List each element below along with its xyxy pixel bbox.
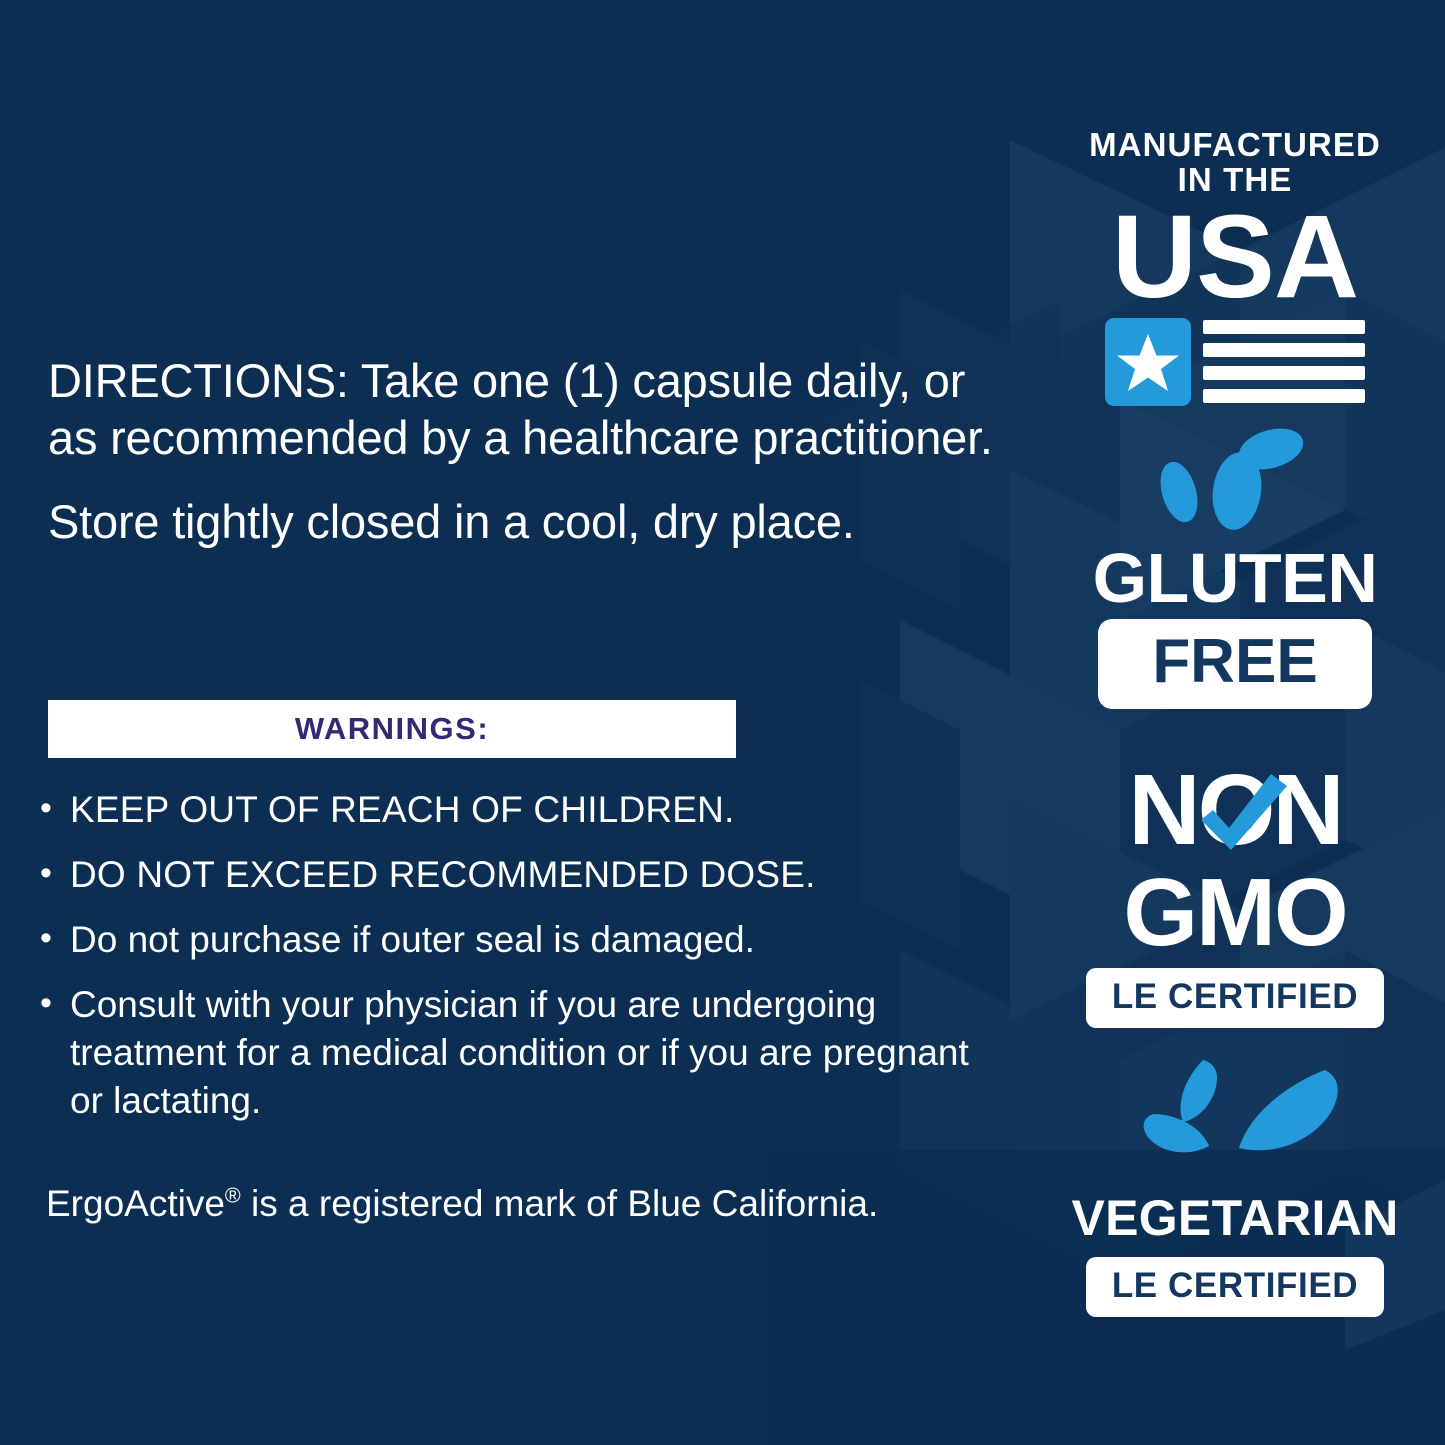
non-gmo-certified-pill: LE CERTIFIED — [1086, 968, 1384, 1028]
badge-non-gmo: NON GMO LE CERTIFIED — [1025, 758, 1445, 1028]
badge-vegetarian: VEGETARIAN LE CERTIFIED — [1025, 1052, 1445, 1317]
bullet-icon: • — [40, 851, 70, 895]
supplement-label-panel: DIRECTIONS: Take one (1) capsule daily, … — [0, 0, 1445, 1445]
certification-badges-column: MANUFACTURED IN THE USA — [1025, 0, 1445, 1445]
warning-text: Do not purchase if outer seal is damaged… — [70, 916, 1000, 964]
badge-gluten-free: GLUTEN FREE — [1025, 424, 1445, 709]
vegetarian-certified-pill: LE CERTIFIED — [1086, 1257, 1384, 1317]
directions-block: DIRECTIONS: Take one (1) capsule daily, … — [48, 352, 1023, 550]
trademark-name: ErgoActive — [46, 1183, 225, 1224]
svg-text:NON: NON — [1128, 758, 1341, 866]
warning-text: Consult with your physician if you are u… — [70, 981, 1000, 1125]
bullet-icon: • — [40, 916, 70, 960]
warning-item: • DO NOT EXCEED RECOMMENDED DOSE. — [40, 851, 1000, 899]
badge-manufactured-in-usa: MANUFACTURED IN THE USA — [1025, 128, 1445, 406]
warning-text: KEEP OUT OF REACH OF CHILDREN. — [70, 786, 1000, 834]
bullet-icon: • — [40, 786, 70, 830]
warning-text: DO NOT EXCEED RECOMMENDED DOSE. — [70, 851, 1000, 899]
usa-flag-icon — [1105, 318, 1365, 406]
warnings-list: • KEEP OUT OF REACH OF CHILDREN. • DO NO… — [40, 786, 1000, 1138]
warning-item: • KEEP OUT OF REACH OF CHILDREN. — [40, 786, 1000, 834]
warnings-title: WARNINGS: — [295, 711, 489, 747]
gluten-word: GLUTEN — [1025, 543, 1445, 613]
usa-word: USA — [1025, 203, 1445, 313]
gluten-free-pill: FREE — [1098, 619, 1371, 709]
directions-paragraph-2: Store tightly closed in a cool, dry plac… — [48, 493, 1023, 550]
vegetarian-word: VEGETARIAN — [1025, 1193, 1445, 1243]
bullet-icon: • — [40, 981, 70, 1025]
usa-line-1: MANUFACTURED — [1025, 128, 1445, 162]
gmo-word: GMO — [1025, 867, 1445, 958]
trademark-notice: ErgoActive® is a registered mark of Blue… — [46, 1180, 1006, 1228]
directions-paragraph-1: DIRECTIONS: Take one (1) capsule daily, … — [48, 352, 1023, 467]
non-word-with-checkmark-icon: NON — [1025, 758, 1445, 866]
leaves-icon — [1025, 1052, 1445, 1180]
warnings-header-bar: WARNINGS: — [48, 700, 736, 758]
grain-kernels-icon — [1025, 424, 1445, 532]
registered-symbol: ® — [225, 1184, 241, 1208]
trademark-rest: is a registered mark of Blue California. — [241, 1183, 879, 1224]
warning-item: • Consult with your physician if you are… — [40, 981, 1000, 1125]
warning-item: • Do not purchase if outer seal is damag… — [40, 916, 1000, 964]
label-text-column: DIRECTIONS: Take one (1) capsule daily, … — [0, 0, 1030, 1445]
